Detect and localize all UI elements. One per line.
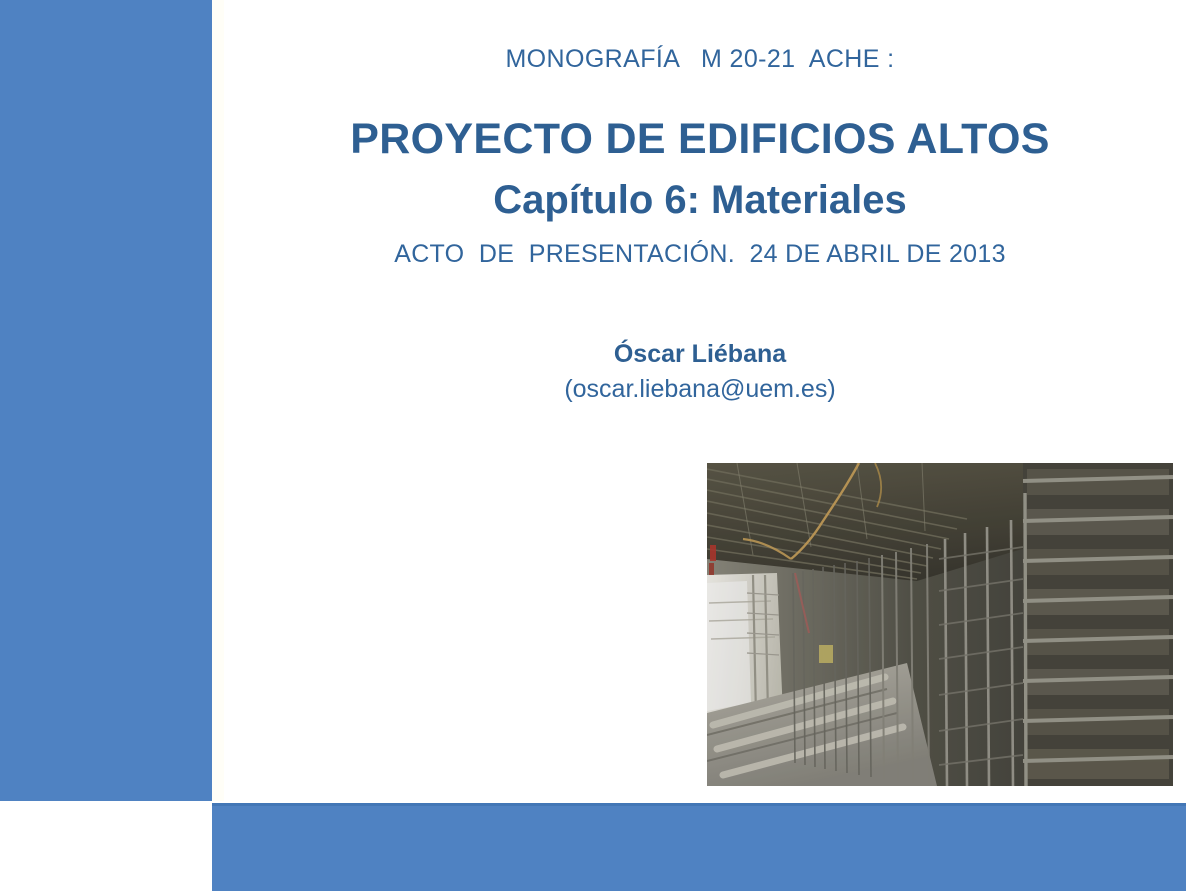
logo-area: AC H E — [0, 801, 212, 891]
slide-title-main: PROYECTO DE EDIFICIOS ALTOS — [224, 118, 1176, 161]
author-name: Óscar Liébana — [224, 340, 1176, 369]
presentation-event-date: ACTO DE PRESENTACIÓN. 24 DE ABRIL DE 201… — [224, 240, 1176, 269]
monograph-kicker: MONOGRAFÍA M 20-21 ACHE : — [224, 45, 1176, 74]
slide-content-area: MONOGRAFÍA M 20-21 ACHE : PROYECTO DE ED… — [224, 0, 1186, 801]
bottom-blue-band — [212, 803, 1186, 891]
author-email: (oscar.liebana@uem.es) — [224, 375, 1176, 404]
left-white-strip — [212, 0, 224, 801]
rebar-cage-photo — [707, 463, 1173, 786]
slide-title-chapter: Capítulo 6: Materiales — [224, 180, 1176, 220]
left-blue-sidebar — [0, 0, 212, 801]
presentation-slide: MONOGRAFÍA M 20-21 ACHE : PROYECTO DE ED… — [0, 0, 1186, 891]
